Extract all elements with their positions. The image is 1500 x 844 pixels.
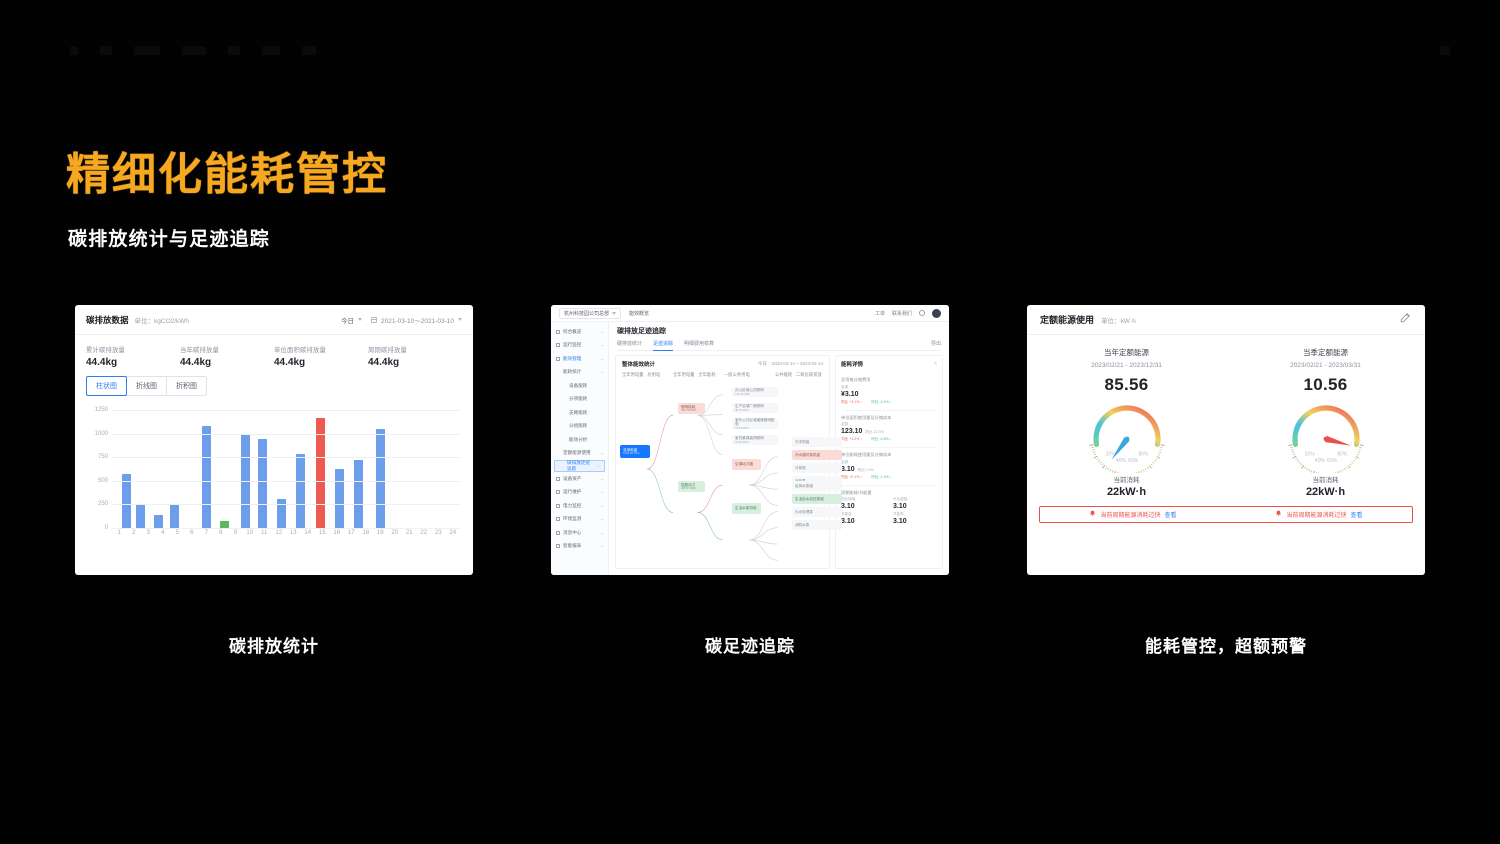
gauge: 20%40%60%80%: [1027, 399, 1226, 473]
card1-title: 碳排放数据: [86, 314, 129, 326]
card3-title: 定额能源使用: [1040, 313, 1094, 326]
compare-item: 同比增幅3.10: [841, 496, 885, 511]
mindmap-leaf-node[interactable]: 给排水泵组: [792, 481, 842, 491]
detail-block: 总用电分摊费用金额¥3.10同比 +3.1% ↑环比 -2.1% ↓: [841, 373, 937, 405]
ghost-toolbar: [70, 30, 1450, 70]
sidebar-item-label: 分项能耗: [569, 396, 587, 402]
gauge-quota-value: 10.56: [1226, 375, 1425, 395]
ghost-block: [134, 46, 160, 55]
x-tick-label: 6: [190, 530, 193, 536]
chart-bar: [220, 521, 229, 528]
detail-panel-title: 能耗详情: [841, 360, 863, 368]
compare-label: 环比增幅: [893, 497, 937, 502]
detail-blocks: 总用电分摊费用金额¥3.10同比 +3.1% ↑环比 -2.1% ↓单位面积使用…: [841, 373, 937, 480]
chart-bar: [258, 439, 267, 528]
x-tick-label: 23: [435, 530, 442, 536]
mindmap-panel-title: 整体能效统计: [622, 360, 655, 368]
current-consumption-value: 22kW·h: [1027, 486, 1226, 498]
gauge-svg: 20%40%60%80%: [1282, 399, 1370, 473]
node-title: 冷水循环泵机组: [795, 453, 839, 457]
node-sub: 1234.56 kWh: [623, 452, 647, 455]
sidebar-item-定额能源使用[interactable]: 定额能源使用⌄: [551, 447, 608, 461]
node-title: 生活给水加压泵组: [795, 497, 839, 501]
avatar[interactable]: [932, 309, 941, 318]
sidebar-item-label: 能效管理: [563, 356, 581, 362]
node-title: 消防水泵: [795, 523, 839, 527]
menu-icon: [556, 490, 560, 494]
mindmap-kpis: 全年用电量 · 总用电全年用电量 · 全年能耗一般公共用电公共能耗 · 二氧化碳…: [616, 372, 829, 381]
gauge: 20%40%60%80%: [1226, 399, 1425, 473]
sidebar-item-碳排放足迹追踪[interactable]: 碳排放足迹追踪⌄: [554, 460, 605, 472]
card2-page-title: 碳排放足迹追踪: [617, 326, 941, 336]
chart-plot-area: 125010007505002500: [112, 410, 460, 528]
menu-icon: [556, 531, 560, 535]
current-consumption-value: 22kW·h: [1226, 486, 1425, 498]
compare-value: 3.10: [893, 503, 937, 510]
card1-chart: 125010007505002500 123456789101112131415…: [86, 406, 462, 546]
detail-block: 单位能耗使用量及分摊成本金额3.10 同比 2.3%同比 +2.1% ↑环比 -…: [841, 447, 937, 480]
node-sub: 456.78 kWh: [681, 409, 702, 412]
compare-row-1: 同比增幅3.10环比增幅3.10: [841, 496, 937, 511]
sidebar-item-分组能耗[interactable]: 分组能耗: [551, 420, 608, 434]
mindmap-canvas[interactable]: 总用电量1234.56 kWh照明能耗456.78 kWh插座动力345.67 …: [616, 381, 829, 568]
mindmap-links: [616, 381, 829, 568]
compare-label: 节能率: [893, 512, 937, 517]
chevron-down-icon: ⌄: [600, 476, 604, 482]
chevron-down-icon: ⌄: [600, 369, 604, 375]
sidebar-item-设备资产[interactable]: 设备资产⌄: [551, 472, 608, 486]
detail-value: 3.10 同比 2.3%: [841, 466, 937, 473]
sidebar-item-label: 设备资产: [563, 476, 581, 482]
chevron-down-icon: [358, 318, 362, 321]
alert-text: 当前周期能源消耗过快: [1286, 510, 1346, 519]
gridline: [112, 434, 460, 435]
chart-type-tab[interactable]: 折线图: [126, 376, 167, 396]
x-tick-label: 4: [161, 530, 164, 536]
stat-item: 累计碳排放量44.4kg: [86, 345, 180, 368]
detail-label: 总用电分摊费用: [841, 377, 937, 383]
svg-text:20%: 20%: [1304, 452, 1315, 458]
svg-text:80%: 80%: [1138, 452, 1149, 458]
stat-value: 44.4kg: [86, 357, 180, 368]
sidebar-item-运行监控[interactable]: 运行监控⌄: [551, 339, 608, 353]
card2-tabs: 碳排放统计足迹追踪明细费用核算 导出: [617, 340, 941, 351]
x-tick-label: 18: [362, 530, 369, 536]
compare-label: 同比增幅: [841, 497, 885, 502]
trend-down: 环比 -1.4% ↓: [871, 475, 891, 480]
node-sub: 123.45 kWh: [735, 393, 775, 396]
chart-bar: [136, 505, 145, 528]
y-tick-label: 0: [105, 525, 108, 531]
kpi-item: 全年用电量 · 全年能耗: [673, 372, 721, 378]
mindmap-period[interactable]: 今日: [758, 361, 767, 367]
node-title: 生活水泵供电: [735, 506, 758, 510]
cards-row: 碳排放数据 单位：kgCO2/kWh 今日 2021-03-10～2021-03…: [0, 305, 1500, 575]
gauge-range: 2023/02/21 - 2023/12/31: [1027, 362, 1226, 369]
sidebar-item-电力监控[interactable]: 电力监控⌄: [551, 499, 608, 513]
stat-value: 44.4kg: [274, 357, 368, 368]
chart-bar: [335, 469, 344, 528]
date-range-value: 2021-03-10～2021-03-10: [381, 315, 454, 325]
card-footprint-tracking: 杭州科技园公司总部 能效概览 工单 联系我们 综合概览⌄运行监控⌄能效管理⌄能耗…: [551, 305, 949, 575]
x-tick-label: 14: [304, 530, 311, 536]
chevron-down-icon: ⌄: [600, 543, 604, 549]
kpi-item: 公共能耗 · 二氧化碳排放: [775, 372, 823, 378]
detail-unit: 金额: [841, 460, 937, 465]
stat-value: 44.4kg: [180, 357, 274, 368]
compare-value: 3.10: [841, 518, 885, 525]
sidebar-item-label: 环境监测: [563, 516, 581, 522]
compare-item: 节能率3.10: [893, 510, 937, 525]
detail-trends: 同比 +3.1% ↑环比 -2.1% ↓: [841, 400, 937, 405]
sidebar-item-label: 综合概览: [563, 329, 581, 335]
alarm-icon: [1089, 510, 1096, 519]
sidebar-item-label: 电力监控: [563, 503, 581, 509]
node-title: 给排水泵组: [795, 484, 839, 488]
detail-tag: 同比 2.3%: [857, 468, 874, 472]
menu-icon: [556, 504, 560, 508]
trend-down: 环比 -2.1% ↓: [871, 400, 891, 405]
chart-bar: [122, 474, 131, 528]
x-tick-label: 13: [290, 530, 297, 536]
ghost-block: [1440, 46, 1450, 55]
sidebar-item-label: 碳排放足迹追踪: [567, 460, 593, 472]
chevron-down-icon: ⌄: [600, 329, 604, 335]
node-title: 空调动力箱: [735, 462, 758, 466]
gridline: [112, 481, 460, 482]
alarm-icon: [1275, 510, 1282, 519]
x-tick-label: 9: [234, 530, 237, 536]
stat-value: 44.4kg: [368, 357, 462, 368]
card2-tab[interactable]: 碳排放统计: [617, 340, 642, 347]
alert-item: 当前周期能源消耗过快查看: [1226, 510, 1412, 519]
sidebar-item-label: 定额能源使用: [563, 450, 591, 456]
chart-bar: [354, 460, 363, 528]
chevron-down-icon: ⌄: [600, 450, 604, 456]
detail-block: 单位面积使用量及分摊成本金额123.10 同比 22.3%同比 +1.2% ↑环…: [841, 410, 937, 443]
card2-topbar: 杭州科技园公司总部 能效概览 工单 联系我们: [551, 305, 949, 322]
node-sub: 54.32 kWh: [735, 441, 775, 444]
chart-bar: [202, 426, 211, 528]
svg-text:80%: 80%: [1337, 452, 1348, 458]
card2-main: 碳排放足迹追踪 碳排放统计足迹追踪明细费用核算 导出 整体能效统计 今日 202…: [609, 322, 949, 575]
detail-label: 单位面积使用量及分摊成本: [841, 415, 937, 421]
mindmap-date[interactable]: 2023-03-14 ~ 2023-03-14: [772, 361, 823, 367]
caption-card2: 碳足迹追踪: [551, 632, 949, 657]
sidebar-item-label: 分组能耗: [569, 423, 587, 429]
sidebar-item-能耗统计[interactable]: 能耗统计⌄: [551, 366, 608, 380]
export-button[interactable]: 导出: [931, 340, 941, 347]
menu-icon: [556, 343, 560, 347]
chart-x-axis: 123456789101112131415161718192021222324: [112, 530, 460, 544]
mindmap-leaf-node[interactable]: 室内景观装饰照明54.32 kWh: [732, 435, 778, 445]
mindmap-root-node[interactable]: 总用电量1234.56 kWh: [620, 445, 650, 458]
sidebar-item-运行维护[interactable]: 运行维护⌄: [551, 486, 608, 500]
sidebar-item-label: 能效分析: [569, 437, 587, 443]
sidebar-item-支路能耗[interactable]: 支路能耗: [551, 406, 608, 420]
chart-bars: [112, 410, 460, 528]
topbar-workorder[interactable]: 工单: [875, 310, 885, 317]
close-icon[interactable]: ×: [934, 361, 937, 367]
sidebar-item-智能报表[interactable]: 智能报表⌄: [551, 540, 608, 554]
sidebar-item-label: 消息中心: [563, 530, 581, 536]
x-tick-label: 24: [449, 530, 456, 536]
gridline: [112, 457, 460, 458]
gauge-label: 当季定额能源: [1226, 347, 1425, 358]
gauge-column: 当季定额能源2023/02/21 - 2023/03/3110.56 20%40…: [1226, 347, 1425, 498]
mindmap-leaf-node[interactable]: 冷水循环泵机组: [792, 450, 842, 460]
card1-header: 碳排放数据 单位：kgCO2/kWh 今日 2021-03-10～2021-03…: [75, 305, 473, 335]
chevron-down-icon: [458, 318, 462, 321]
node-sub: 345.67 kWh: [681, 487, 702, 490]
gauge-range: 2023/02/21 - 2023/03/31: [1226, 362, 1425, 369]
chevron-down-icon: ⌄: [596, 463, 600, 469]
sidebar-item-分项能耗[interactable]: 分项能耗: [551, 393, 608, 407]
card2-columns: 整体能效统计 今日 2023-03-14 ~ 2023-03-14 全年用电量 …: [609, 351, 949, 575]
mindmap-branch-node[interactable]: 照明能耗456.78 kWh: [678, 403, 705, 414]
chart-type-tab[interactable]: 柱状图: [86, 376, 127, 396]
x-tick-label: 10: [246, 530, 253, 536]
svg-text:60%: 60%: [1327, 458, 1338, 464]
ghost-block: [100, 46, 112, 55]
alert-item: 当前周期能源消耗过快查看: [1040, 510, 1226, 519]
chevron-down-icon: ⌄: [600, 530, 604, 536]
stat-item: 当年碳排放量44.4kg: [180, 345, 274, 368]
gridline: [112, 410, 460, 411]
card2-sidebar: 综合概览⌄运行监控⌄能效管理⌄能耗统计⌄设备能耗分项能耗支路能耗分组能耗能效分析…: [551, 322, 609, 575]
menu-icon: [556, 517, 560, 521]
mindmap-panel-filters: 今日 2023-03-14 ~ 2023-03-14: [758, 361, 823, 367]
trend-up: 同比 +3.1% ↑: [841, 400, 862, 405]
stat-label: 当年碳排放量: [180, 345, 274, 354]
card1-filters: 今日 2021-03-10～2021-03-10: [341, 315, 462, 325]
detail-tag: 同比 22.3%: [864, 430, 883, 434]
detail-label: 单位能耗使用量及分摊成本: [841, 452, 937, 458]
topbar-contact[interactable]: 联系我们: [892, 310, 912, 317]
alert-bar: 当前周期能源消耗过快查看 当前周期能源消耗过快查看: [1039, 506, 1413, 523]
sidebar-item-综合概览[interactable]: 综合概览⌄: [551, 325, 608, 339]
calendar-icon: [371, 317, 377, 323]
kpi-item: 全年用电量 · 总用电: [622, 372, 670, 378]
sidebar-item-label: 智能报表: [563, 543, 581, 549]
card3-gauges: 当年定额能源2023/02/21 - 2023/12/3185.56 20%40…: [1027, 335, 1425, 498]
node-sub: 76.54 kWh: [735, 427, 775, 430]
chart-bar: [154, 515, 163, 528]
mindmap-leaf-node[interactable]: 冷却塔: [792, 463, 842, 473]
sidebar-item-label: 设备能耗: [569, 383, 587, 389]
card2-tab[interactable]: 明细费用核算: [684, 340, 714, 347]
menu-icon: [556, 330, 560, 334]
stat-label: 累计碳排放量: [86, 345, 180, 354]
detail-unit: 金额: [841, 422, 937, 427]
mindmap-leaf-node[interactable]: 冷冻机组: [792, 437, 842, 447]
alert-view-link[interactable]: 查看: [1165, 510, 1177, 519]
gridline: [112, 504, 460, 505]
chevron-down-icon: ⌄: [600, 503, 604, 509]
mindmap-leaf-node[interactable]: 办公区域公共照明123.45 kWh: [732, 387, 778, 397]
kpi-item: 一般公共用电: [724, 372, 772, 378]
current-consumption-label: 当前消耗: [1226, 474, 1425, 484]
x-tick-label: 16: [333, 530, 340, 536]
node-title: 冷冻机组: [795, 440, 839, 444]
mindmap-panel-header: 整体能效统计 今日 2023-03-14 ~ 2023-03-14: [616, 356, 829, 372]
svg-text:40%: 40%: [1314, 458, 1325, 464]
period-select[interactable]: 今日: [341, 315, 362, 325]
ghost-block: [228, 46, 240, 55]
sidebar-item-环境监测[interactable]: 环境监测⌄: [551, 513, 608, 527]
y-tick-label: 1000: [95, 431, 108, 437]
card2-topbar-right: 工单 联系我们: [875, 309, 941, 318]
caption-card3: 能耗管控，超额预警: [1027, 632, 1425, 657]
mindmap-leaf-node[interactable]: 室外公共区域道路照明配电76.54 kWh: [732, 419, 778, 429]
sidebar-item-label: 能耗统计: [563, 369, 581, 375]
period-select-value: 今日: [341, 315, 354, 325]
card1-unit: 单位：kgCO2/kWh: [135, 315, 190, 325]
page-title: 精细化能耗管控: [66, 150, 388, 201]
compare-row-2: 节能量3.10节能率3.10: [841, 510, 937, 525]
node-title: 冷却塔: [795, 466, 839, 470]
x-tick-label: 17: [348, 530, 355, 536]
breadcrumb-org[interactable]: 杭州科技园公司总部: [559, 308, 621, 319]
current-consumption-label: 当前消耗: [1027, 474, 1226, 484]
x-tick-label: 22: [420, 530, 427, 536]
chevron-down-icon: [612, 312, 616, 315]
breadcrumb-org-label: 杭州科技园公司总部: [564, 310, 609, 317]
mindmap-sub-node[interactable]: 空调动力箱: [732, 459, 761, 470]
mindmap-branch-node[interactable]: 插座动力345.67 kWh: [678, 481, 705, 492]
detail-trends: 同比 +2.1% ↑环比 -1.4% ↓: [841, 475, 937, 480]
x-tick-label: 11: [261, 530, 267, 536]
ghost-block: [182, 46, 206, 55]
chart-type-tab[interactable]: 折积图: [166, 376, 207, 396]
caption-card1: 碳排放统计: [75, 632, 473, 657]
svg-text:60%: 60%: [1128, 458, 1139, 464]
chevron-down-icon: ⌄: [600, 342, 604, 348]
sidebar-item-消息中心[interactable]: 消息中心⌄: [551, 526, 608, 540]
mindmap-leaf-node[interactable]: 污水处理泵: [792, 507, 842, 517]
sidebar-item-label: 运行维护: [563, 489, 581, 495]
pencil-icon[interactable]: [1399, 311, 1412, 329]
detail-value: ¥3.10: [841, 391, 937, 398]
card2-header: 碳排放足迹追踪 碳排放统计足迹追踪明细费用核算 导出: [609, 322, 949, 351]
mindmap-leaf-node[interactable]: 消防水泵: [792, 520, 842, 530]
sidebar-item-能效管理[interactable]: 能效管理⌄: [551, 352, 608, 366]
gauge-column: 当年定额能源2023/02/21 - 2023/12/3185.56 20%40…: [1027, 347, 1226, 498]
gridline: [112, 528, 460, 529]
gear-icon[interactable]: [919, 310, 925, 316]
x-tick-label: 1: [118, 530, 121, 536]
alert-view-link[interactable]: 查看: [1351, 510, 1363, 519]
x-tick-label: 12: [275, 530, 282, 536]
x-tick-label: 5: [176, 530, 179, 536]
mindmap-sub-node[interactable]: 生活水泵供电: [732, 503, 761, 514]
sidebar-item-label: 支路能耗: [569, 410, 587, 416]
node-title: 污水处理泵: [795, 510, 839, 514]
card3-header: 定额能源使用 单位：kW·h: [1027, 305, 1425, 335]
date-range-select[interactable]: 2021-03-10～2021-03-10: [371, 315, 462, 325]
card1-chart-type-tabs: 柱状图折线图折积图: [75, 372, 473, 396]
card3-unit: 单位：kW·h: [1101, 315, 1136, 325]
detail-panel-header: 能耗详情 ×: [841, 360, 937, 368]
menu-icon: [556, 544, 560, 548]
card2-tab[interactable]: 足迹追踪: [653, 340, 673, 347]
trend-down: 环比 -0.6% ↓: [871, 437, 891, 442]
compare-label: 节能量: [841, 512, 885, 517]
breadcrumb-page[interactable]: 能效概览: [629, 310, 649, 317]
menu-icon: [556, 357, 560, 361]
y-tick-label: 1250: [95, 407, 108, 413]
trend-up: 同比 +1.2% ↑: [841, 437, 862, 442]
detail-trends: 同比 +1.2% ↑环比 -0.6% ↓: [841, 437, 937, 442]
chevron-down-icon: ⌄: [600, 489, 604, 495]
compare-item: 节能量3.10: [841, 510, 885, 525]
chart-bar: [376, 429, 385, 528]
sidebar-item-设备能耗[interactable]: 设备能耗: [551, 379, 608, 393]
mindmap-leaf-node[interactable]: 生活给水加压泵组: [792, 494, 842, 504]
svg-text:40%: 40%: [1115, 458, 1126, 464]
y-tick-label: 750: [98, 454, 108, 460]
x-tick-label: 19: [377, 530, 384, 536]
node-sub: 98.76 kWh: [735, 409, 775, 412]
y-tick-label: 500: [98, 478, 108, 484]
sidebar-item-能效分析[interactable]: 能效分析: [551, 433, 608, 447]
card1-stats: 累计碳排放量44.4kg当年碳排放量44.4kg单位面积碳排放量44.4kg周期…: [75, 335, 473, 372]
chart-bar: [296, 454, 305, 528]
x-tick-label: 2: [132, 530, 135, 536]
x-tick-label: 8: [219, 530, 222, 536]
card2-body: 综合概览⌄运行监控⌄能效管理⌄能耗统计⌄设备能耗分项能耗支路能耗分组能耗能效分析…: [551, 322, 949, 575]
compare-value: 3.10: [841, 503, 885, 510]
chart-bar: [170, 505, 179, 528]
stat-label: 周期碳排放量: [368, 345, 462, 354]
x-tick-label: 20: [391, 530, 398, 536]
chevron-down-icon: ⌄: [600, 516, 604, 522]
detail-value: 123.10 同比 22.3%: [841, 428, 937, 435]
detail-panel: 能耗详情 × 总用电分摊费用金额¥3.10同比 +3.1% ↑环比 -2.1% …: [835, 355, 943, 569]
card-quota-energy: 定额能源使用 单位：kW·h 当年定额能源2023/02/21 - 2023/1…: [1027, 305, 1425, 575]
stat-label: 单位面积碳排放量: [274, 345, 368, 354]
x-tick-label: 7: [205, 530, 208, 536]
stat-item: 周期碳排放量44.4kg: [368, 345, 462, 368]
ghost-block: [302, 46, 316, 55]
menu-icon: [556, 477, 560, 481]
sidebar-item-label: 运行监控: [563, 342, 581, 348]
page-subtitle: 碳排放统计与足迹追踪: [68, 224, 270, 251]
gauge-svg: 20%40%60%80%: [1083, 399, 1171, 473]
trend-up: 同比 +2.1% ↑: [841, 475, 862, 480]
y-tick-label: 250: [98, 501, 108, 507]
mindmap-panel: 整体能效统计 今日 2023-03-14 ~ 2023-03-14 全年用电量 …: [615, 355, 830, 569]
ghost-block: [70, 46, 78, 55]
chevron-down-icon: ⌄: [600, 356, 604, 362]
gauge-quota-value: 85.56: [1027, 375, 1226, 395]
stat-item: 单位面积碳排放量44.4kg: [274, 345, 368, 368]
gauge-label: 当年定额能源: [1027, 347, 1226, 358]
compare-value: 3.10: [893, 518, 937, 525]
mindmap-leaf-node[interactable]: 生产区域厂房照明98.76 kWh: [732, 403, 778, 413]
x-tick-label: 15: [319, 530, 326, 536]
alert-text: 当前周期能源消耗过快: [1100, 510, 1160, 519]
x-tick-label: 21: [406, 530, 413, 536]
detail-unit: 金额: [841, 385, 937, 390]
x-tick-label: 3: [147, 530, 150, 536]
compare-item: 环比增幅3.10: [893, 496, 937, 511]
detail-compare: 同期能耗/节能量 同比增幅3.10环比增幅3.10 节能量3.10节能率3.10: [841, 485, 937, 525]
ghost-block: [262, 46, 280, 55]
card-carbon-emission: 碳排放数据 单位：kgCO2/kWh 今日 2021-03-10～2021-03…: [75, 305, 473, 575]
